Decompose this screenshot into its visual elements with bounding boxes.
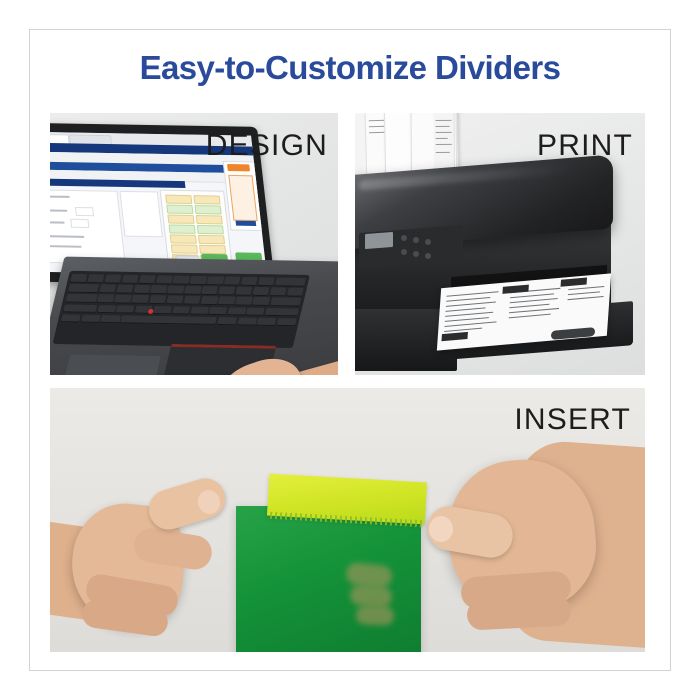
- grid-cell: [198, 235, 225, 244]
- grid-cell: [193, 195, 220, 204]
- grid-cell: [171, 244, 198, 253]
- control-button[interactable]: [425, 253, 431, 259]
- grid-cell: [170, 234, 197, 243]
- right-hand: [405, 426, 645, 652]
- control-button[interactable]: [413, 237, 419, 243]
- preview-divider-outline: [228, 175, 257, 221]
- green-divider-sheet: [236, 506, 421, 652]
- finger-through-divider: [356, 605, 395, 625]
- form-input: [70, 219, 89, 228]
- sheet-tab-mark: [441, 332, 467, 341]
- control-button[interactable]: [413, 251, 419, 257]
- form-label: [50, 195, 70, 198]
- grid-cell: [167, 215, 194, 224]
- control-button[interactable]: [425, 239, 431, 245]
- panel-insert: FINANCE INSERT: [50, 388, 645, 652]
- form-label: [50, 221, 65, 223]
- control-button[interactable]: [401, 249, 407, 255]
- lcd-display-icon: [365, 232, 393, 249]
- preview-action-chip: [236, 221, 257, 226]
- grid-cell: [197, 225, 224, 234]
- panel-label-print: PRINT: [537, 129, 633, 163]
- grid-cell: [165, 195, 192, 204]
- panel-label-insert: INSERT: [514, 403, 631, 437]
- panel-print: PRINT: [355, 113, 645, 375]
- grid-cell: [196, 215, 223, 224]
- preview-tab-highlight: [227, 164, 250, 171]
- sheet-tab-mark: [561, 277, 587, 286]
- control-button[interactable]: [401, 235, 407, 241]
- form-panel-right: [119, 191, 163, 237]
- laptop-palmrest: [60, 354, 161, 375]
- grid-cell: [166, 205, 193, 214]
- image-canvas: Easy-to-Customize Dividers: [0, 0, 700, 700]
- hand-palm: [211, 350, 312, 375]
- thumbnail: [429, 516, 453, 542]
- form-label: [50, 209, 67, 212]
- grid-cell: [194, 205, 221, 214]
- left-hand: [50, 454, 252, 652]
- panel-label-design: DESIGN: [206, 129, 328, 163]
- finger-through-divider: [349, 585, 392, 608]
- browser-tab: [50, 134, 70, 144]
- sheet-tab-mark: [502, 285, 528, 294]
- grid-cell: [169, 224, 196, 233]
- grid-cell: [199, 245, 226, 254]
- panel-design: DESIGN: [50, 113, 338, 375]
- form-input: [75, 207, 94, 216]
- finger: [466, 595, 571, 630]
- page-title: Easy-to-Customize Dividers: [0, 48, 700, 88]
